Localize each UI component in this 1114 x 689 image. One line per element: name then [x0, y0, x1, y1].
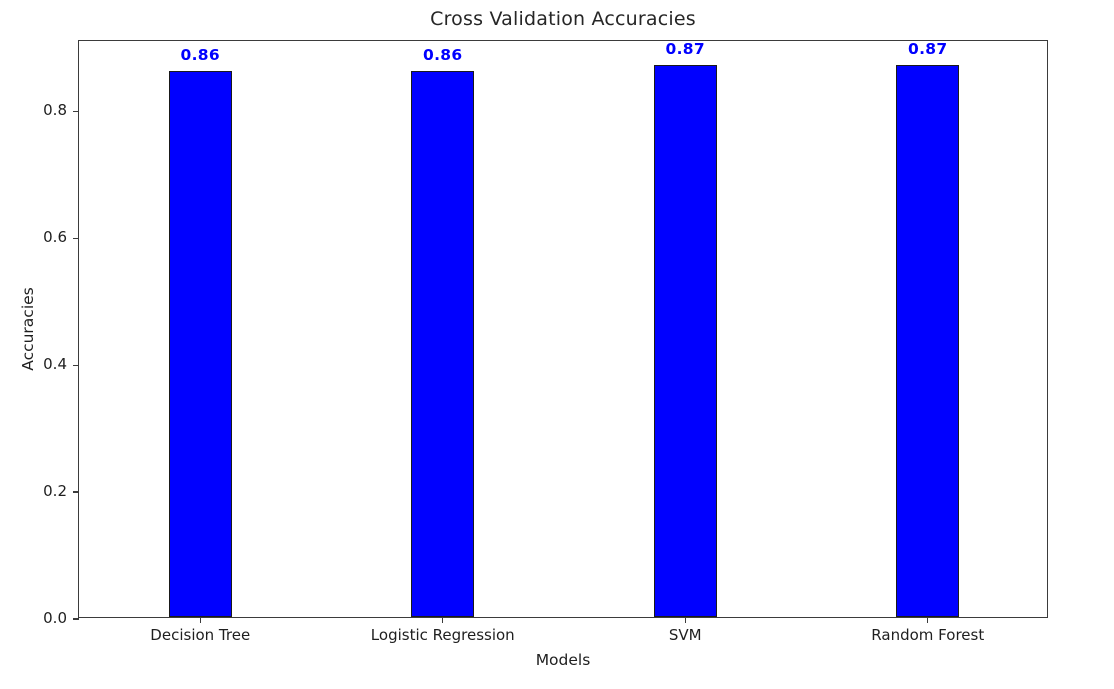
plot-area: 0.00.20.40.60.8 Decision TreeLogistic Re… — [78, 40, 1048, 618]
x-tick-label: Decision Tree — [150, 626, 250, 644]
x-tick-mark — [927, 617, 928, 623]
x-axis-label: Models — [78, 651, 1048, 669]
y-tick-mark — [73, 618, 79, 619]
y-axis-label: Accuracies — [8, 40, 48, 618]
bar-group[interactable]: 0.87 — [896, 39, 959, 617]
x-tick-label: Random Forest — [871, 626, 984, 644]
bar[interactable] — [169, 71, 232, 617]
figure-canvas: Cross Validation Accuracies 0.00.20.40.6… — [0, 0, 1114, 689]
bars-layer: 0.860.860.870.87 — [79, 41, 1047, 617]
bar[interactable] — [411, 71, 474, 617]
x-tick-label: SVM — [669, 626, 702, 644]
bar-value-label: 0.86 — [181, 46, 220, 64]
bar-group[interactable]: 0.86 — [411, 39, 474, 617]
bar-value-label: 0.87 — [908, 40, 947, 58]
bar[interactable] — [654, 65, 717, 617]
chart-title: Cross Validation Accuracies — [78, 8, 1048, 30]
bar[interactable] — [896, 65, 959, 617]
x-tick-mark — [685, 617, 686, 623]
bar-value-label: 0.86 — [423, 46, 462, 64]
bar-group[interactable]: 0.86 — [169, 39, 232, 617]
bar-value-label: 0.87 — [666, 40, 705, 58]
x-tick-label: Logistic Regression — [371, 626, 515, 644]
x-tick-mark — [200, 617, 201, 623]
x-tick-mark — [442, 617, 443, 623]
bar-group[interactable]: 0.87 — [654, 39, 717, 617]
